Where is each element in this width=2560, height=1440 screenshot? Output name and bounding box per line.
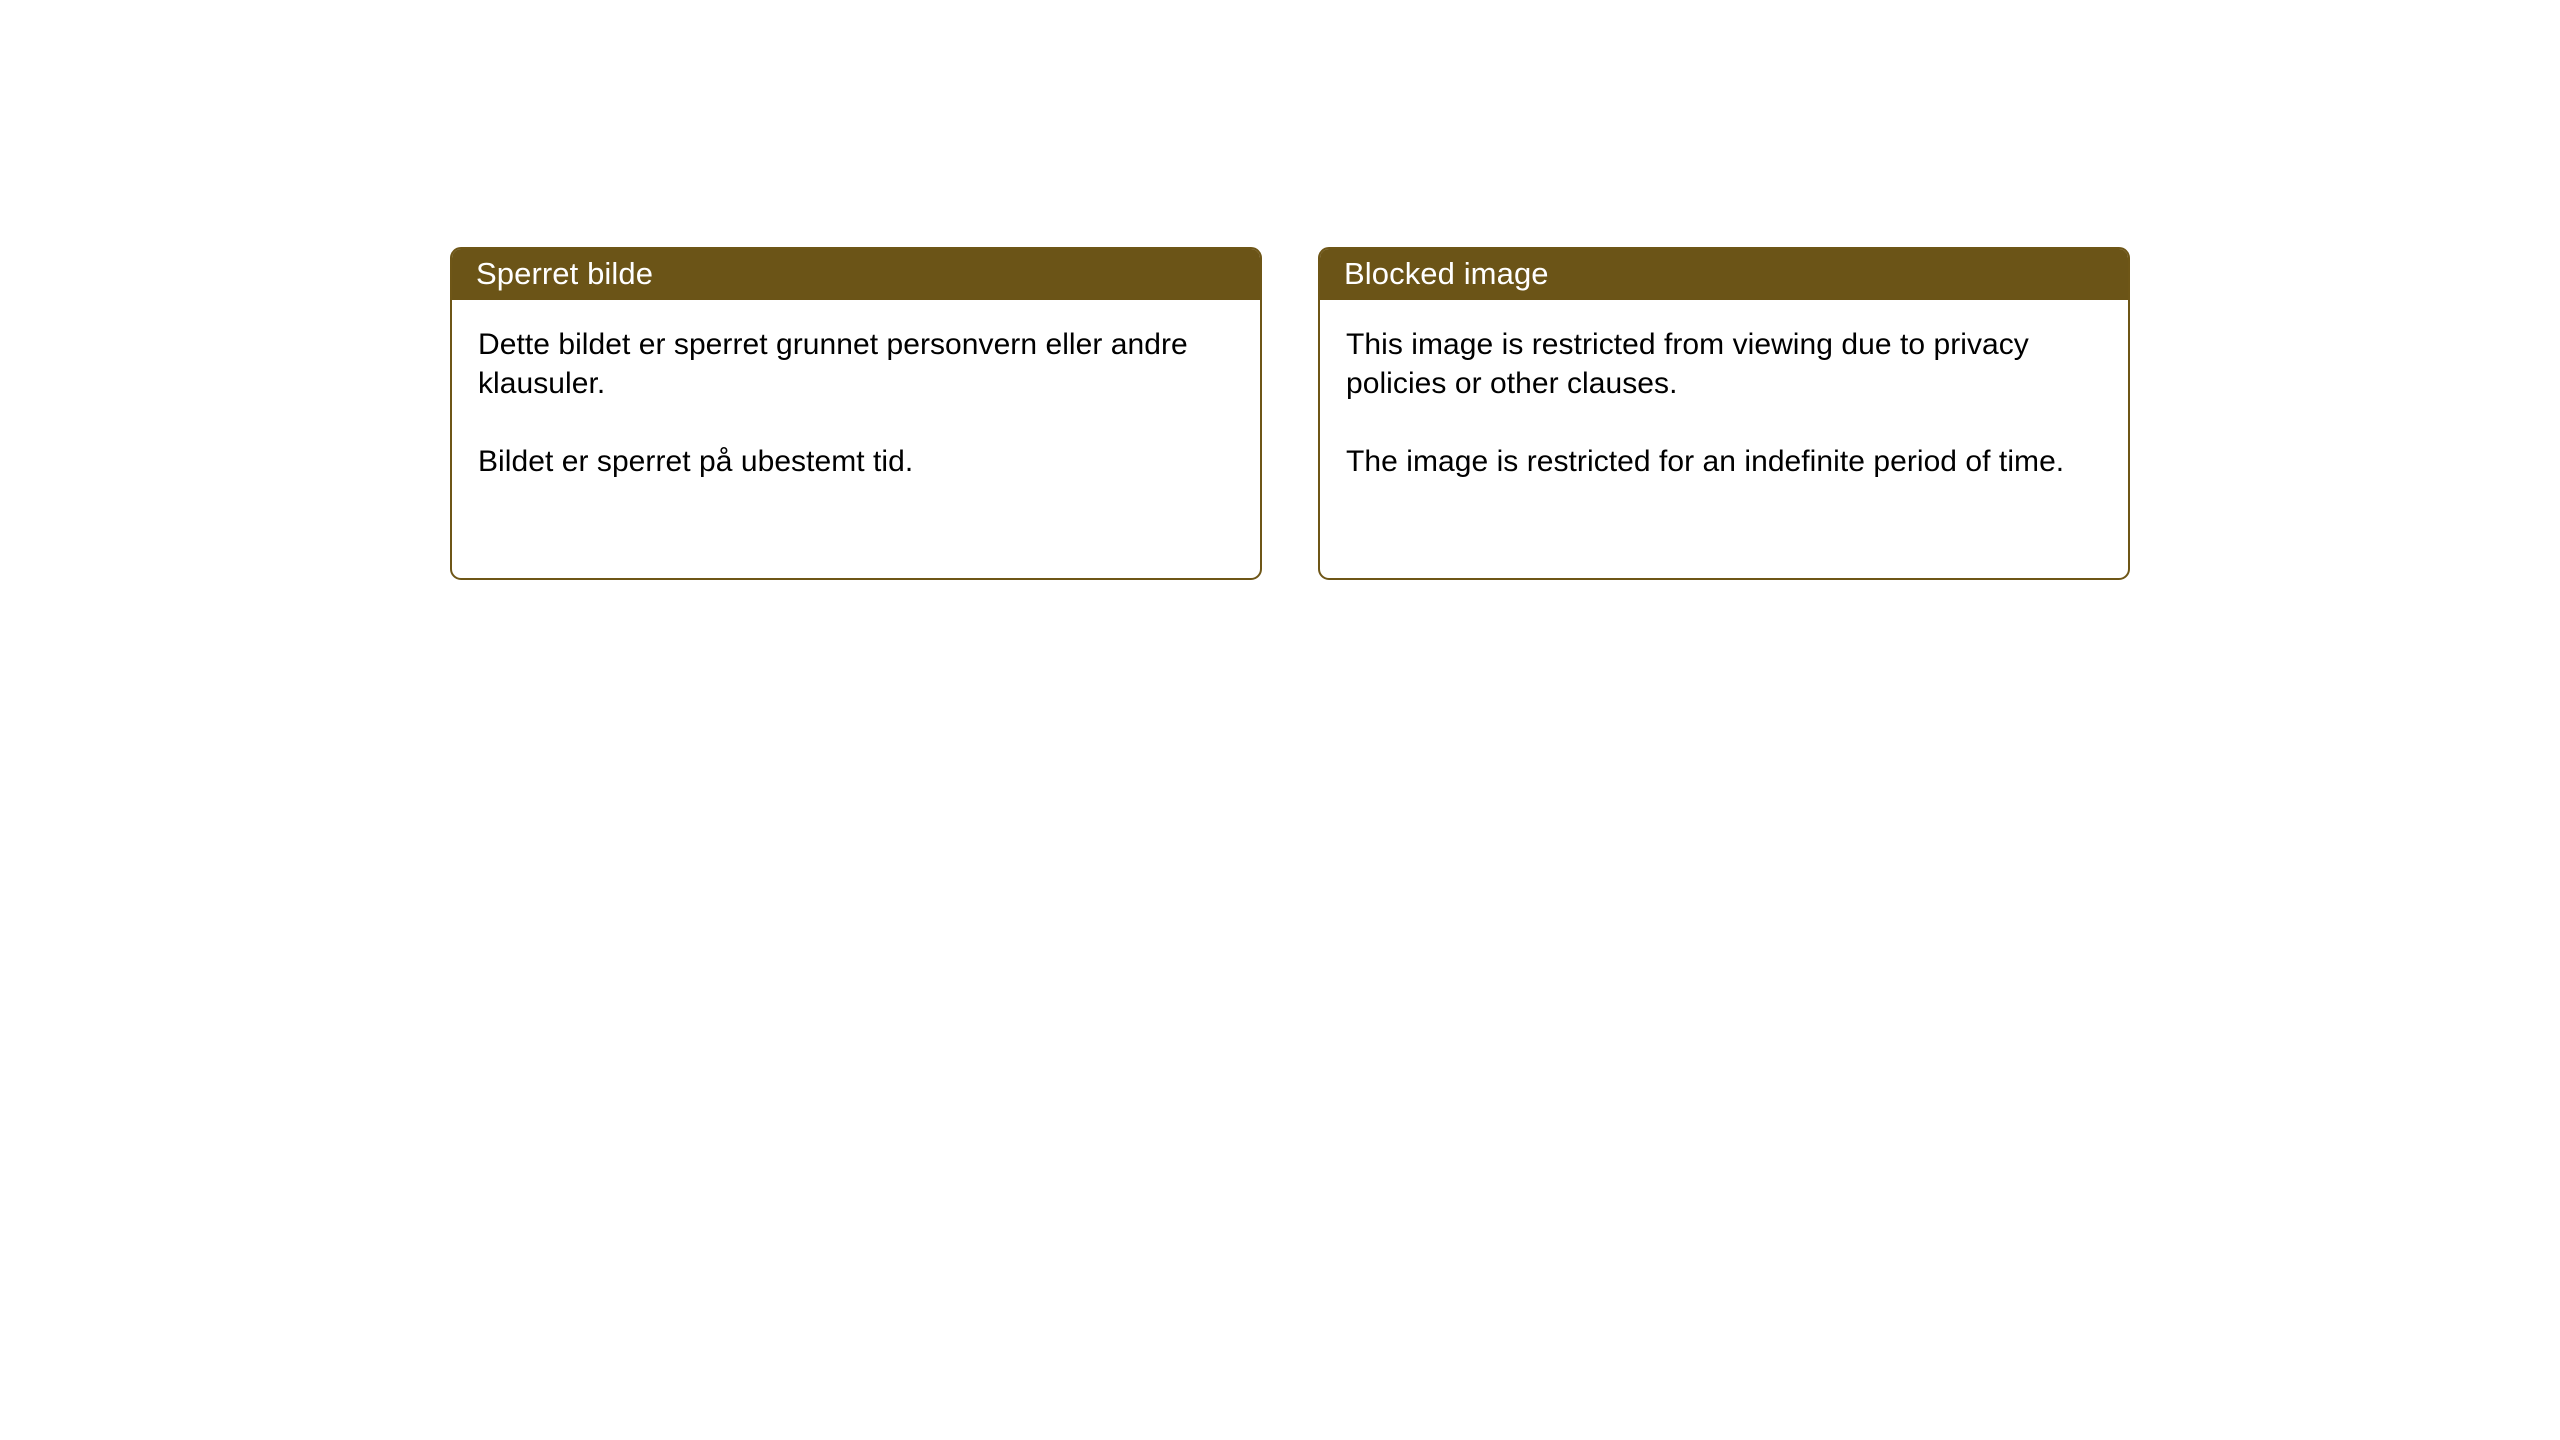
paragraph-spacer [1346, 403, 2104, 442]
blocked-image-notice-english: Blocked image This image is restricted f… [1318, 247, 2130, 580]
card-paragraph-primary-english: This image is restricted from viewing du… [1346, 325, 2104, 403]
card-header-norwegian: Sperret bilde [450, 247, 1262, 300]
card-paragraph-secondary-english: The image is restricted for an indefinit… [1346, 442, 2104, 481]
card-body-norwegian: Dette bildet er sperret grunnet personve… [452, 300, 1260, 481]
page-root: Sperret bilde Dette bildet er sperret gr… [0, 0, 2560, 1440]
paragraph-spacer [478, 403, 1236, 442]
card-paragraph-primary-norwegian: Dette bildet er sperret grunnet personve… [478, 325, 1236, 403]
card-paragraph-secondary-norwegian: Bildet er sperret på ubestemt tid. [478, 442, 1236, 481]
card-title-norwegian: Sperret bilde [476, 256, 653, 292]
card-title-english: Blocked image [1344, 256, 1549, 292]
card-header-english: Blocked image [1318, 247, 2130, 300]
card-body-english: This image is restricted from viewing du… [1320, 300, 2128, 481]
blocked-image-notice-norwegian: Sperret bilde Dette bildet er sperret gr… [450, 247, 1262, 580]
